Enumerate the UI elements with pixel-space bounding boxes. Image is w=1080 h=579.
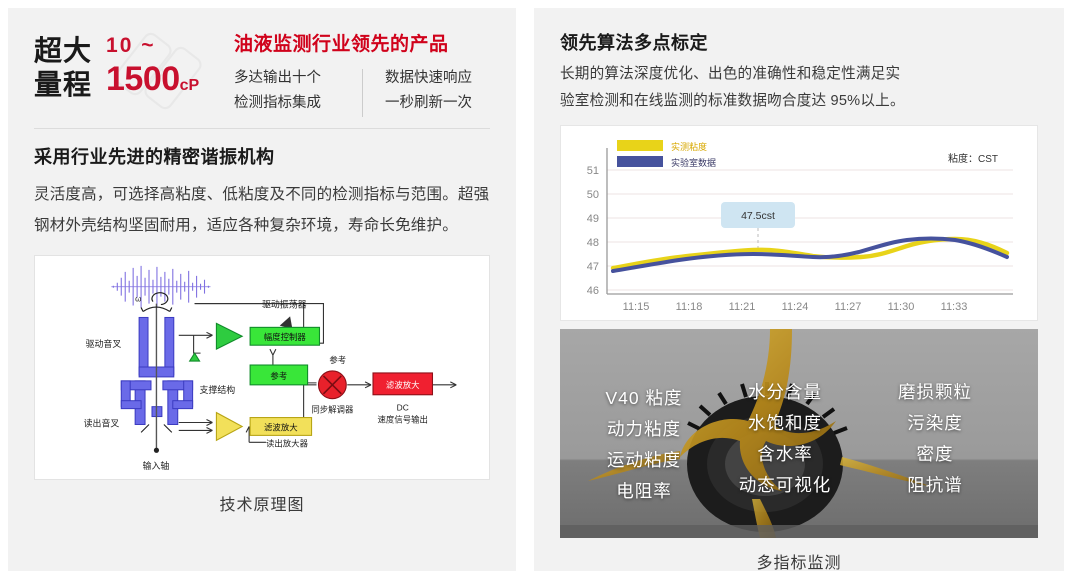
technical-diagram-figure: 驱动音叉 读出音叉 支撑结构 输入轴 ω bbox=[34, 255, 490, 480]
svg-text:49: 49 bbox=[587, 213, 599, 225]
overlay-column-3: 磨损颗粒 污染度 密度 阻抗谱 bbox=[865, 377, 1005, 501]
hero-feature-col-2: 数据快速响应 一秒刷新一次 bbox=[385, 66, 472, 120]
svg-text:11:21: 11:21 bbox=[729, 301, 756, 313]
overlay-1-item-0: V40 粘度 bbox=[574, 383, 714, 414]
svg-text:11:24: 11:24 bbox=[782, 301, 809, 313]
hero-feature-1-line2: 检测指标集成 bbox=[234, 91, 362, 116]
label-reference-box: 参考 bbox=[270, 371, 287, 381]
hero-feature-2-line1: 数据快速响应 bbox=[385, 66, 472, 91]
range-unit: cP bbox=[180, 77, 200, 94]
overlay-3-item-0: 磨损颗粒 bbox=[865, 377, 1005, 408]
overlay-1-item-3: 电阻率 bbox=[574, 476, 714, 507]
chart-unit-label: 粘度：CST bbox=[948, 152, 998, 165]
label-readout-fork: 读出音叉 bbox=[84, 417, 120, 428]
svg-text:11:30: 11:30 bbox=[888, 301, 915, 313]
svg-text:11:15: 11:15 bbox=[623, 301, 650, 313]
legend-label-measured: 实测粘度 bbox=[671, 141, 707, 152]
right-section-body-line2: 验室检测和在线监测的标准数据吻合度达 95%以上。 bbox=[560, 88, 1038, 115]
hero-feature-1-line1: 多达输出十个 bbox=[234, 66, 362, 91]
viscosity-chart-figure: 实测粘度 实验室数据 粘度：CST 51 50 49 bbox=[560, 125, 1038, 321]
overlay-2-item-3: 动态可视化 bbox=[710, 470, 860, 501]
range-block: 10 ~ 1500cP bbox=[106, 30, 224, 105]
svg-text:11:27: 11:27 bbox=[835, 301, 862, 313]
range-max-label: 1500cP bbox=[106, 60, 224, 105]
left-figure-caption: 技术原理图 bbox=[34, 491, 490, 515]
svg-text:11:18: 11:18 bbox=[676, 301, 703, 313]
hero-divider bbox=[34, 128, 490, 129]
overlay-3-item-3: 阻抗谱 bbox=[865, 470, 1005, 501]
hero-cn-line2: 量程 bbox=[34, 68, 92, 102]
label-drive-fork: 驱动音叉 bbox=[86, 338, 122, 349]
section-body: 灵活度高，可选择高粘度、低粘度及不同的检测指标与范围。超强钢材外壳结构坚固耐用，… bbox=[34, 179, 490, 241]
label-drive-oscillator: 驱动振荡器 bbox=[262, 299, 307, 310]
overlay-2-item-1: 水饱和度 bbox=[710, 408, 860, 439]
hero-block: 超大 量程 10 ~ 1500cP 油液监测行业领先的产品 bbox=[34, 30, 490, 122]
overlay-3-item-2: 密度 bbox=[865, 439, 1005, 470]
label-input-shaft: 输入轴 bbox=[143, 460, 170, 471]
right-figure-caption: 多指标监测 bbox=[560, 549, 1038, 573]
svg-text:11:33: 11:33 bbox=[941, 301, 968, 313]
viscosity-line-chart: 实测粘度 实验室数据 粘度：CST 51 50 49 bbox=[561, 126, 1037, 320]
section-title: 采用行业先进的精密谐振机构 bbox=[34, 143, 490, 171]
label-omega: ω bbox=[135, 295, 141, 304]
right-section-body-line1: 长期的算法深度优化、出色的准确性和稳定性满足实 bbox=[560, 61, 1038, 88]
hero-feature-columns: 多达输出十个 检测指标集成 数据快速响应 一秒刷新一次 bbox=[234, 66, 472, 120]
sync-demodulator-icon bbox=[318, 371, 346, 399]
label-dc: DC bbox=[397, 403, 409, 413]
label-filter-amp-red: 滤波放大 bbox=[386, 380, 420, 390]
hero-feature-col-1: 多达输出十个 检测指标集成 bbox=[234, 66, 362, 120]
overlay-2-item-0: 水分含量 bbox=[710, 377, 860, 408]
annotation-tooltip-label: 47.5cst bbox=[741, 210, 775, 222]
svg-text:50: 50 bbox=[587, 189, 599, 201]
svg-text:51: 51 bbox=[587, 165, 599, 177]
overlay-3-item-1: 污染度 bbox=[865, 408, 1005, 439]
overlay-column-2: 水分含量 水饱和度 含水率 动态可视化 bbox=[710, 377, 860, 501]
right-section-title: 领先算法多点标定 bbox=[560, 30, 1038, 57]
left-panel: 超大 量程 10 ~ 1500cP 油液监测行业领先的产品 bbox=[8, 8, 516, 571]
label-sync-demodulator: 同步解调器 bbox=[311, 405, 354, 415]
right-panel: 领先算法多点标定 长期的算法深度优化、出色的准确性和稳定性满足实 验室检测和在线… bbox=[534, 8, 1064, 571]
hero-text-block: 油液监测行业领先的产品 多达输出十个 检测指标集成 数据快速响应 一秒刷新一次 bbox=[234, 30, 472, 120]
label-speed-signal-output: 速度信号输出 bbox=[378, 415, 428, 425]
legend-label-lab: 实验室数据 bbox=[671, 157, 716, 168]
legend-swatch-lab bbox=[617, 156, 663, 167]
page-root: 超大 量程 10 ~ 1500cP 油液监测行业领先的产品 bbox=[0, 0, 1080, 579]
overlay-1-item-2: 运动粘度 bbox=[574, 445, 714, 476]
multi-indicator-photo: V40 粘度 动力粘度 运动粘度 电阻率 水分含量 水饱和度 含水率 动态可视化… bbox=[560, 329, 1038, 538]
hero-feature-2-line2: 一秒刷新一次 bbox=[385, 91, 472, 116]
hero-headline: 油液监测行业领先的产品 bbox=[234, 32, 472, 58]
hero-cn-line1: 超大 bbox=[34, 34, 92, 68]
svg-text:48: 48 bbox=[587, 237, 599, 249]
range-max-value: 1500 bbox=[106, 60, 180, 98]
label-reference-line: 参考 bbox=[329, 355, 346, 365]
legend-swatch-measured bbox=[617, 140, 663, 151]
label-filter-amp-yellow: 滤波放大 bbox=[264, 422, 298, 432]
label-support: 支撑结构 bbox=[200, 384, 236, 395]
range-min-label: 10 ~ bbox=[106, 32, 224, 60]
overlay-column-1: V40 粘度 动力粘度 运动粘度 电阻率 bbox=[574, 383, 714, 507]
overlay-1-item-1: 动力粘度 bbox=[574, 414, 714, 445]
overlay-2-item-2: 含水率 bbox=[710, 439, 860, 470]
hero-column-divider bbox=[362, 69, 363, 117]
svg-text:46: 46 bbox=[587, 285, 599, 297]
label-amplitude-controller: 幅度控制器 bbox=[264, 332, 307, 342]
label-readout-amp: 读出放大器 bbox=[266, 438, 309, 448]
hero-chinese-label: 超大 量程 bbox=[34, 30, 92, 102]
technical-principle-diagram: 驱动音叉 读出音叉 支撑结构 输入轴 ω bbox=[35, 256, 489, 479]
svg-text:47: 47 bbox=[587, 261, 599, 273]
